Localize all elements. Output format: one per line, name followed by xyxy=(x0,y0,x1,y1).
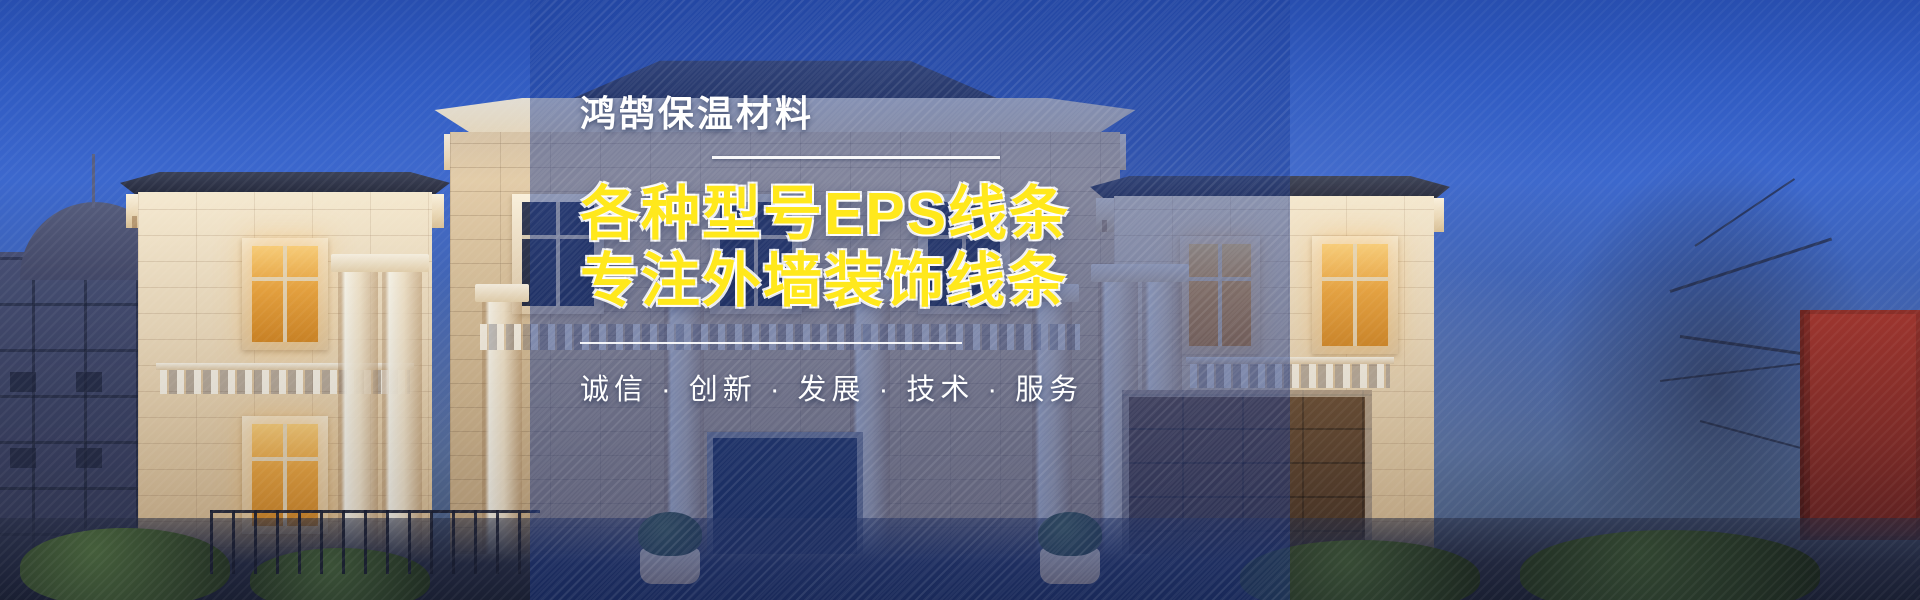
railing-icon xyxy=(210,510,540,574)
lit-window-icon xyxy=(1322,244,1388,346)
red-panel xyxy=(1800,310,1920,540)
headline-line-2: 专注外墙装饰线条 xyxy=(580,248,1240,315)
headline-group: 各种型号EPS线条 专注外墙装饰线条 xyxy=(580,181,1240,316)
brand-divider xyxy=(712,156,1000,159)
banner-copy: 鸿鹄保温材料 各种型号EPS线条 专注外墙装饰线条 诚信 · 创新 · 发展 ·… xyxy=(580,96,1240,408)
distant-spire xyxy=(92,154,95,208)
lit-window-icon xyxy=(252,246,318,342)
promo-banner: 鸿鹄保温材料 各种型号EPS线条 专注外墙装饰线条 诚信 · 创新 · 发展 ·… xyxy=(0,0,1920,600)
brand-name: 鸿鹄保温材料 xyxy=(580,96,1240,132)
shrub-icon xyxy=(20,528,230,600)
tagline-divider xyxy=(580,342,962,344)
headline-line-1: 各种型号EPS线条 xyxy=(580,181,1240,248)
tagline: 诚信 · 创新 · 发展 · 技术 · 服务 xyxy=(580,366,1240,408)
